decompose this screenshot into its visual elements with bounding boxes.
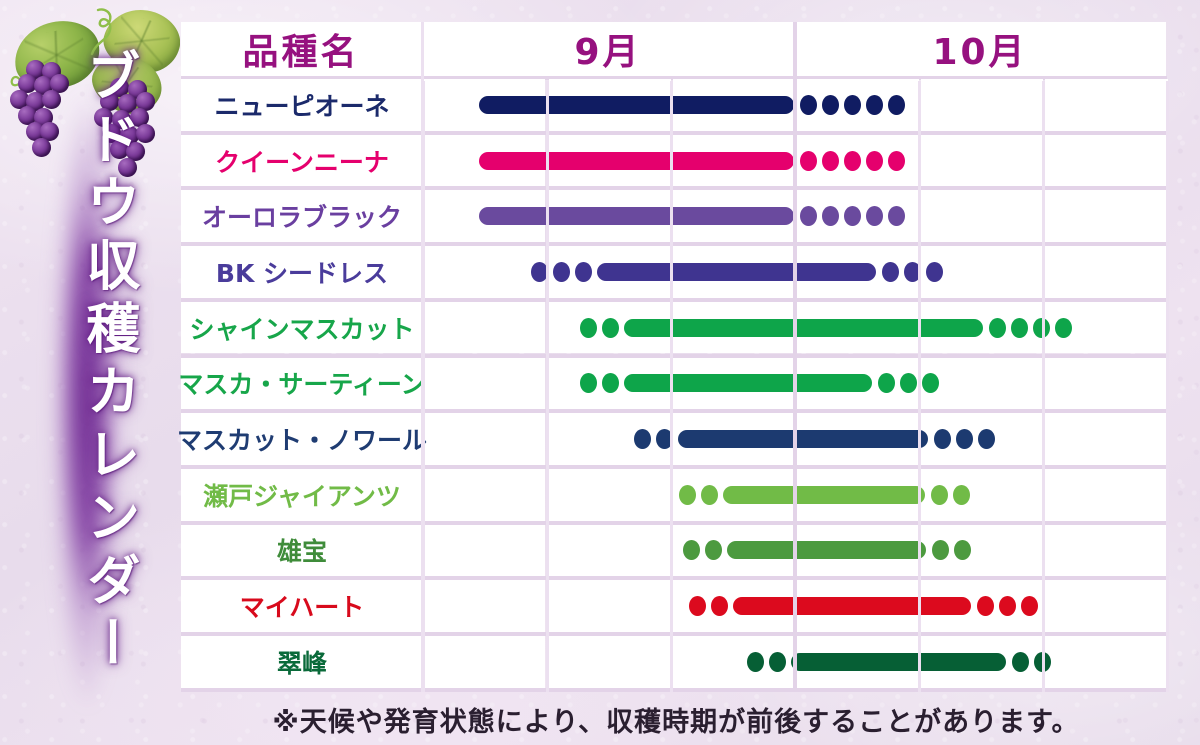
harvest-dot-late [866,95,883,115]
row-bg-segment [1045,190,1168,242]
harvest-dot-late [926,262,943,282]
harvest-dot-late [931,485,948,505]
row-bg-segment [423,413,545,465]
row-bg-segment [423,246,545,298]
variety-name-11: 翠峰 [181,637,423,687]
harvest-dot-late [822,206,839,226]
harvest-dot-late [866,206,883,226]
variety-name-9: 雄宝 [181,526,423,576]
harvest-bar-peak [791,653,1006,671]
harvest-dot-late [844,95,861,115]
row-bg-segment [1045,525,1168,577]
harvest-dot-late [800,151,817,171]
row-bg-segment [1045,469,1168,521]
row-bg-segment [423,302,545,354]
row-bg-segment [549,469,671,521]
row-bg-segment [549,580,671,632]
harvest-dot-late [800,206,817,226]
row-bg-segment [423,580,545,632]
variety-name-3: オーロラブラック [181,191,423,241]
grid-hline-row [181,688,1167,692]
row-bg-segment [1045,413,1168,465]
harvest-dot-early [689,596,706,616]
variety-name-1: ニューピオーネ [181,80,423,130]
variety-name-10: マイハート [181,581,423,631]
harvest-dot-early [575,262,592,282]
harvest-dot-late [934,429,951,449]
row-bg-segment [423,358,545,410]
grid-vline [670,81,673,692]
variety-name-2: クイーンニーナ [181,136,423,186]
harvest-bar-peak [624,374,872,392]
harvest-dot-late [882,262,899,282]
row-bg-segment [1045,79,1168,131]
variety-name-8: 瀬戸ジャイアンツ [181,470,423,520]
harvest-bar-peak [479,152,794,170]
harvest-bar-peak [678,430,927,448]
variety-name-6: マスカ・サーティーン [181,359,423,409]
row-bg-segment [423,525,545,577]
harvest-dot-late [822,151,839,171]
header-name-column: 品種名 [181,22,421,76]
harvest-dot-late [978,429,995,449]
harvest-bar-peak [624,319,984,337]
grid-vline-month-divider [793,22,797,692]
row-bg-segment [921,358,1043,410]
grid-vline [918,81,921,692]
harvest-dot-late [844,206,861,226]
harvest-dot-late [844,151,861,171]
grid-vline [1166,81,1169,692]
grid-vline [1042,81,1045,692]
harvest-dot-early [711,596,728,616]
harvest-dot-early [679,485,696,505]
harvest-dot-late [956,429,973,449]
grid-vline-name-column [421,22,424,692]
harvest-dot-late [822,95,839,115]
page-title: ブドウ収穫カレンダー [40,48,136,708]
harvest-dot-early [701,485,718,505]
harvest-dot-late [866,151,883,171]
harvest-bar-peak [733,597,971,615]
harvest-dot-late [888,95,905,115]
harvest-dot-late [888,206,905,226]
header-month-2: 10月 [795,22,1165,76]
footnote: ※天候や発育状態により、収穫時期が前後することがあります。 [181,697,1171,741]
row-bg-segment [921,79,1043,131]
row-bg-segment [549,636,671,688]
row-bg-segment [921,190,1043,242]
row-bg-segment [1045,358,1168,410]
harvest-dot-late [1012,652,1029,672]
variety-name-7: マスカット・ノワール [181,414,423,464]
grid-vline [546,81,549,692]
row-bg-segment [423,636,545,688]
harvest-dot-early [553,262,570,282]
harvest-bar-peak [597,263,876,281]
row-bg-segment [1045,636,1168,688]
row-bg-segment [1045,580,1168,632]
row-bg-segment [1045,135,1168,187]
harvest-dot-early [580,318,597,338]
harvest-bar-peak [727,541,927,559]
variety-name-4: BK シードレス [181,247,423,297]
header-month-1: 9月 [423,22,793,76]
row-bg-segment [549,413,671,465]
harvest-dot-late [953,485,970,505]
harvest-dot-late [888,151,905,171]
row-bg-segment [549,525,671,577]
title-band: ブドウ収穫カレンダー [0,0,180,745]
harvest-dot-late [800,95,817,115]
harvest-bar-peak [723,486,925,504]
harvest-calendar-table: 品種名9月10月ニューピオーネクイーンニーナオーロラブラックBK シードレスシャ… [181,22,1167,692]
harvest-bar-peak [479,96,794,114]
variety-name-5: シャインマスカット [181,303,423,353]
harvest-bar-peak [479,207,794,225]
row-bg-segment [921,135,1043,187]
harvest-dot-early [602,318,619,338]
row-bg-segment [423,469,545,521]
row-bg-segment [1045,246,1168,298]
